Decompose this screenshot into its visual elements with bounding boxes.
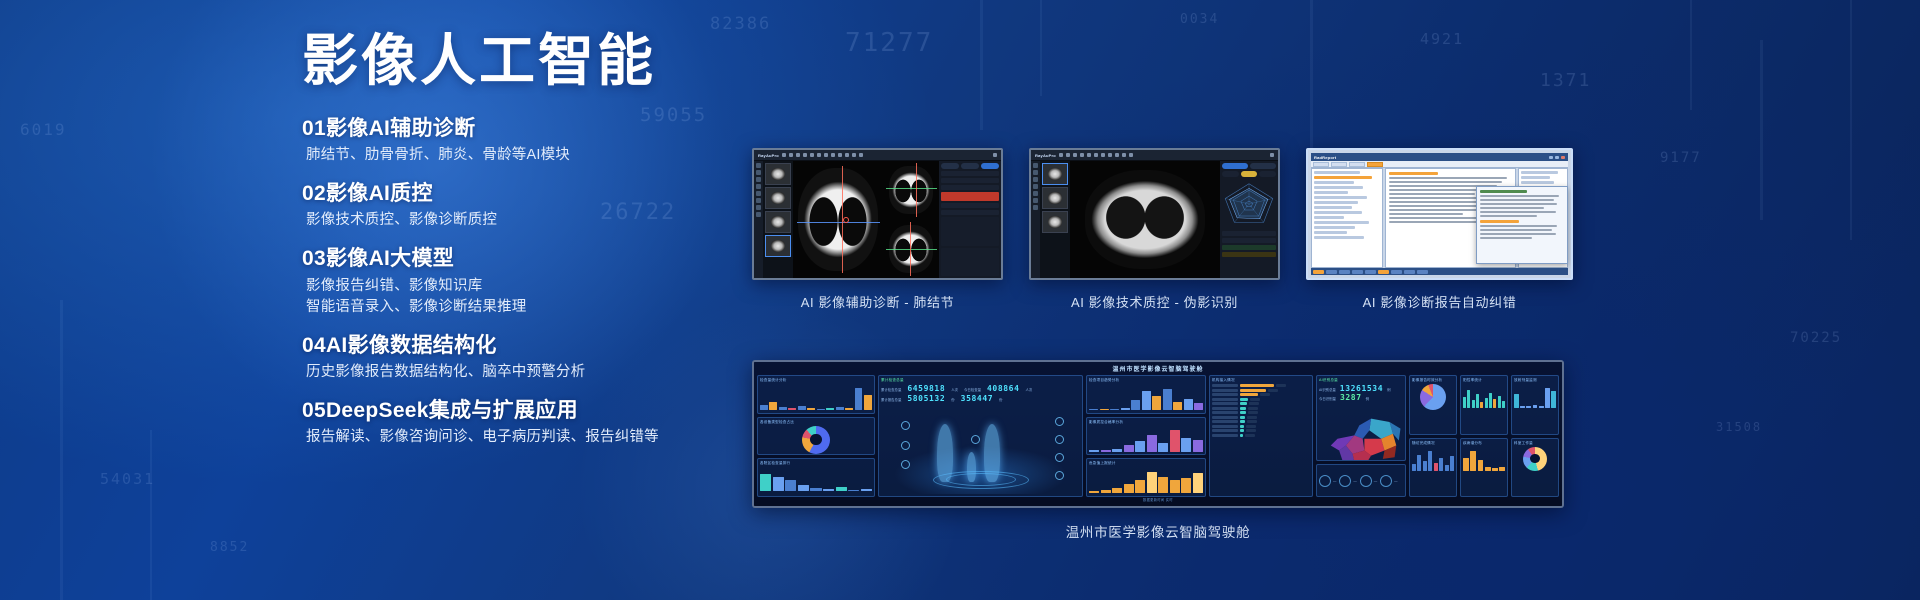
save-button[interactable] — [1313, 270, 1324, 274]
qc-score-panel[interactable] — [1220, 161, 1278, 278]
qc-result-row-warning[interactable] — [1222, 252, 1276, 257]
finding-detail-text — [941, 217, 999, 246]
banner-root: 82386 71277 59055 26722 4921 1371 0034 9… — [0, 0, 1920, 600]
ct-axial-view[interactable] — [793, 161, 884, 278]
action-button[interactable] — [1365, 270, 1376, 274]
tab-item[interactable] — [1331, 162, 1347, 167]
tab-item-active[interactable] — [1367, 162, 1383, 167]
maximize-icon[interactable] — [1555, 156, 1559, 159]
series-thumbnail[interactable] — [765, 187, 791, 209]
stat-exam-total: 6459818 — [907, 384, 945, 393]
series-thumbnail[interactable] — [765, 235, 791, 257]
kpi-item[interactable]: ― — [1380, 475, 1397, 487]
dashboard-card-exam-stats[interactable]: 检查量统计分析 — [757, 375, 875, 414]
action-button[interactable] — [1326, 270, 1337, 274]
finding-row[interactable] — [941, 178, 999, 183]
bar-chart — [1463, 447, 1505, 471]
screenshot-row: RayAuPro — [752, 148, 1573, 311]
dashboard-caption: 温州市医学影像云智脑驾驶舱 — [1066, 521, 1251, 541]
app-logo: RayAuPro — [1035, 153, 1056, 158]
line-chart — [1463, 384, 1505, 408]
tool-rail[interactable] — [754, 161, 763, 278]
action-button[interactable] — [1378, 270, 1389, 274]
donut-chart — [802, 426, 830, 454]
qc-result-row[interactable] — [1222, 238, 1276, 243]
panel-tab[interactable] — [1250, 163, 1276, 169]
feature-desc-01: 肺结节、肋骨骨折、肺炎、骨龄等AI模块 — [302, 145, 732, 166]
close-icon[interactable] — [993, 153, 997, 157]
series-thumbnail-list[interactable] — [763, 161, 793, 278]
feature-item-01: 01影像AI辅助诊断 肺结节、肋骨骨折、肺炎、骨龄等AI模块 — [302, 115, 732, 166]
screenshot-image-ai-quality-control[interactable]: RayAuPro — [1029, 148, 1280, 280]
screenshot-caption-report-auto-correct: AI 影像诊断报告自动纠错 — [1363, 292, 1517, 311]
feature-desc-04: 历史影像报告数据结构化、脑卒中预警分析 — [302, 362, 732, 383]
tab-item[interactable] — [1313, 162, 1329, 167]
pie-chart — [1420, 384, 1446, 410]
dashboard-card-dept-workload[interactable]: 科室工作量 — [1511, 438, 1559, 498]
kpi-item[interactable]: ― — [1339, 475, 1356, 487]
feature-list: 影像人工智能 01影像AI辅助诊断 肺结节、肋骨骨折、肺炎、骨龄等AI模块 02… — [302, 30, 732, 462]
tab-bar[interactable] — [1311, 161, 1568, 168]
human-body-visual — [881, 405, 1080, 494]
app-toolbar: RayAuPro — [1031, 150, 1278, 161]
panel-tab[interactable] — [981, 163, 999, 169]
bg-digit-12: 6019 — [20, 120, 67, 139]
line-chart — [1412, 447, 1454, 471]
feature-item-04: 04AI影像数据结构化 历史影像报告数据结构化、脑卒中预警分析 — [302, 332, 732, 383]
series-thumbnail[interactable] — [765, 163, 791, 185]
tool-rail[interactable] — [1031, 161, 1040, 278]
feature-item-03: 03影像AI大模型 影像报告纠错、影像知识库 智能语音录入、影像诊断结果推理 — [302, 245, 732, 317]
bg-digit-4: 4921 — [1420, 30, 1464, 48]
action-button[interactable] — [1352, 270, 1363, 274]
bg-digit-1: 71277 — [845, 28, 933, 58]
qc-result-row[interactable] — [1222, 231, 1276, 236]
stat-exam-today: 408864 — [987, 384, 1020, 393]
stat-ai-today: 3287 — [1340, 393, 1362, 402]
app-titlebar: RadReport — [1311, 153, 1568, 161]
region-map[interactable] — [1319, 402, 1403, 461]
dashboard-kpi-strip[interactable]: ― ― ― ― — [1316, 464, 1406, 497]
auto-correct-dialog[interactable] — [1476, 186, 1568, 264]
bg-digit-8: 54031 — [100, 470, 155, 488]
stat-report-today: 358447 — [961, 394, 994, 403]
feature-item-05: 05DeepSeek集成与扩展应用 报告解读、影像咨询问诊、电子病历判读、报告纠… — [302, 397, 732, 448]
dashboard-title: 温州市医学影像云智脑驾驶舱 — [757, 365, 1559, 375]
bar-chart — [1514, 384, 1556, 408]
bg-digit-7: 9177 — [1660, 150, 1702, 166]
feature-desc-02: 影像技术质控、影像诊断质控 — [302, 210, 732, 231]
qc-option-selected[interactable] — [1241, 171, 1258, 177]
action-button[interactable] — [1404, 270, 1415, 274]
screenshot-ai-quality-control[interactable]: RayAuPro — [1029, 148, 1280, 311]
feature-title-04: 04AI影像数据结构化 — [302, 332, 732, 359]
bar-chart — [1089, 426, 1203, 452]
bg-digit-11: 31508 — [1716, 420, 1762, 434]
tab-item[interactable] — [1349, 162, 1365, 167]
stat-report-total: 5805132 — [907, 394, 945, 403]
app-logo: RayAuPro — [758, 153, 779, 158]
feature-title-02: 02影像AI质控 — [302, 180, 732, 207]
bar-chart — [1089, 467, 1203, 493]
panel-tab[interactable] — [961, 163, 979, 169]
close-icon[interactable] — [1561, 156, 1565, 159]
dashboard-card-institutions[interactable]: 机构接入情况 — [1209, 375, 1313, 497]
series-thumbnail[interactable] — [1042, 211, 1068, 233]
qc-option[interactable] — [1259, 171, 1276, 177]
dashboard-card-positive-rate[interactable]: 阳性率统计 — [1460, 375, 1508, 435]
action-toolbar[interactable] — [1311, 268, 1568, 275]
close-icon[interactable] — [1270, 153, 1274, 157]
stat-ai-total: 13261534 — [1340, 384, 1383, 393]
ct-sagittal-view[interactable] — [884, 220, 939, 278]
finding-row[interactable] — [941, 210, 999, 215]
ct-axial-view[interactable] — [1070, 161, 1220, 278]
bar-chart — [760, 384, 872, 410]
dashboard-footer: 数据更新时间 实时 — [757, 497, 1559, 502]
screenshot-image-report-auto-correct[interactable]: RadReport — [1306, 148, 1573, 280]
bg-digit-9: 8852 — [210, 540, 249, 555]
dashboard-card-site-ranking[interactable]: 各院区检查量排行 — [757, 458, 875, 497]
dashboard-block: 温州市医学影像云智脑驾驶舱 检查量统计分析 — [752, 360, 1564, 541]
finding-row[interactable] — [941, 185, 999, 190]
screenshot-ai-diagnosis[interactable]: RayAuPro — [752, 148, 1003, 311]
dashboard-card-critical-value[interactable]: 危急值上报统计 — [1086, 458, 1206, 497]
panel-tab[interactable] — [941, 163, 959, 169]
dashboard-card-modality-share[interactable]: 各设备类型检查占比 — [757, 417, 875, 456]
image-viewer[interactable] — [1070, 161, 1220, 278]
series-thumbnail[interactable] — [1042, 163, 1068, 185]
patient-tree-panel[interactable] — [1311, 168, 1383, 268]
finding-row[interactable] — [941, 203, 999, 208]
screenshot-report-auto-correct[interactable]: RadReport — [1306, 148, 1573, 311]
kpi-item[interactable]: ― — [1319, 475, 1336, 487]
finding-row-selected[interactable] — [941, 192, 999, 201]
screenshot-caption-ai-quality-control: AI 影像技术质控 - 伪影识别 — [1071, 292, 1238, 311]
feature-title-03: 03影像AI大模型 — [302, 245, 732, 272]
feature-item-02: 02影像AI质控 影像技术质控、影像诊断质控 — [302, 180, 732, 231]
panel-tab[interactable] — [1222, 163, 1248, 169]
bg-digit-6: 0034 — [1180, 12, 1219, 27]
action-button[interactable] — [1391, 270, 1402, 274]
series-thumbnail-list[interactable] — [1040, 161, 1070, 278]
bg-digit-10: 70225 — [1790, 330, 1842, 346]
ct-coronal-view[interactable] — [884, 161, 939, 219]
dashboard-card-report-timeliness[interactable]: 影像报告时效分析 — [1409, 375, 1457, 435]
feature-title-01: 01影像AI辅助诊断 — [302, 115, 732, 142]
series-thumbnail[interactable] — [1042, 187, 1068, 209]
bar-chart — [760, 467, 872, 491]
image-viewer[interactable] — [793, 161, 939, 278]
feature-title-05: 05DeepSeek集成与扩展应用 — [302, 397, 732, 424]
feature-desc-03: 影像报告纠错、影像知识库 智能语音录入、影像诊断结果推理 — [302, 276, 732, 318]
series-thumbnail[interactable] — [765, 211, 791, 233]
ai-findings-panel[interactable] — [939, 161, 1001, 278]
qc-result-row[interactable] — [1222, 245, 1276, 250]
qc-option[interactable] — [1222, 171, 1239, 177]
bg-digit-5: 1371 — [1540, 70, 1591, 91]
minimize-icon[interactable] — [1549, 156, 1553, 159]
app-toolbar: RayAuPro — [754, 150, 1001, 161]
dashboard-screenshot[interactable]: 温州市医学影像云智脑驾驶舱 检查量统计分析 — [752, 360, 1564, 508]
finding-row[interactable] — [941, 171, 999, 176]
screenshot-image-ai-diagnosis[interactable]: RayAuPro — [752, 148, 1003, 280]
action-button[interactable] — [1339, 270, 1350, 274]
dashboard-card-ai-map[interactable]: AI识别总量 AI识别总量 13261534 例 今日识别量 3287 例 — [1316, 375, 1406, 461]
feature-desc-05: 报告解读、影像咨询问诊、电子病历判读、报告纠错等 — [302, 427, 732, 448]
action-button[interactable] — [1417, 270, 1428, 274]
dashboard-hero-panel[interactable]: 累计检查总量 累计检查总量 6459818 人次 今日检查量 408864 人次… — [878, 375, 1083, 497]
bar-chart — [1089, 384, 1203, 410]
dashboard-card-qc-rate[interactable]: 影像质控合格率分析 — [1086, 417, 1206, 456]
dashboard-card-disease-spectrum[interactable]: 疾病谱分布 — [1460, 438, 1508, 498]
app-logo: RadReport — [1314, 155, 1336, 160]
dashboard-card-followup[interactable]: 随访完成情况 — [1409, 438, 1457, 498]
page-title: 影像人工智能 — [302, 30, 732, 93]
dashboard-card-project-trend[interactable]: 检查项目趋势分析 — [1086, 375, 1206, 414]
screenshot-caption-ai-diagnosis: AI 影像辅助诊断 - 肺结节 — [801, 292, 954, 311]
donut-chart — [1523, 447, 1547, 471]
finding-notes-text — [941, 248, 999, 277]
dashboard-card-dose-monitor[interactable]: 放射剂量监测 — [1511, 375, 1559, 435]
qc-radar-chart — [1222, 181, 1276, 227]
kpi-item[interactable]: ― — [1360, 475, 1377, 487]
